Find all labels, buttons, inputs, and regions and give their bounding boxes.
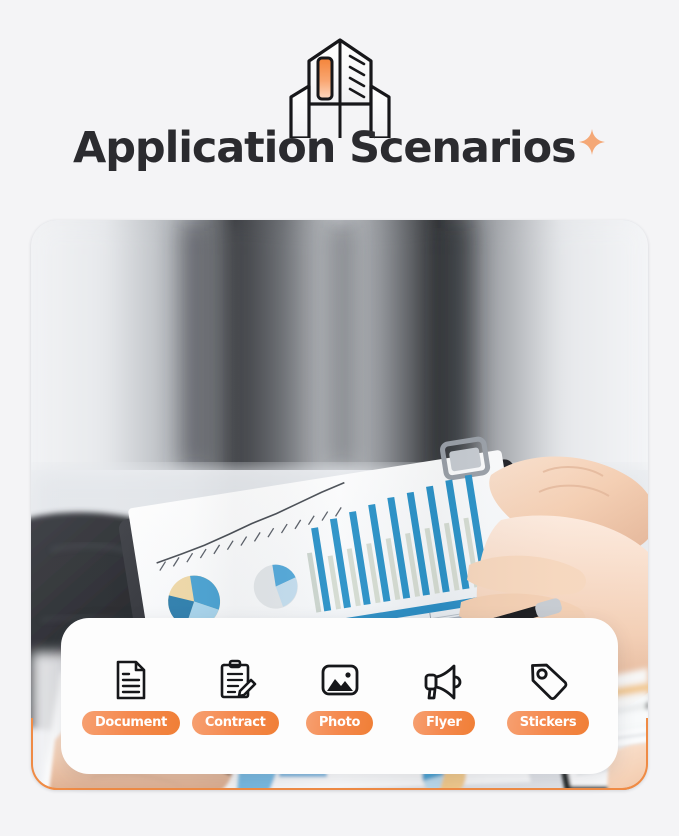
sparkle-star-icon bbox=[578, 128, 606, 156]
category-item-flyer[interactable]: Flyer bbox=[392, 658, 496, 735]
category-item-photo[interactable]: Photo bbox=[288, 658, 392, 735]
price-tag-icon bbox=[526, 658, 570, 702]
document-file-icon bbox=[109, 658, 153, 702]
category-label-document[interactable]: Document bbox=[82, 711, 180, 735]
category-item-stickers[interactable]: Stickers bbox=[496, 658, 600, 735]
category-label-contract[interactable]: Contract bbox=[192, 711, 279, 735]
scenario-category-card: Document Contract bbox=[61, 618, 618, 774]
promo-page: Application Scenarios bbox=[0, 0, 679, 836]
image-picture-icon bbox=[318, 658, 362, 702]
megaphone-icon bbox=[422, 658, 466, 702]
category-item-document[interactable]: Document bbox=[79, 658, 183, 735]
category-label-flyer[interactable]: Flyer bbox=[413, 711, 475, 735]
category-label-photo[interactable]: Photo bbox=[306, 711, 373, 735]
clipboard-pen-icon bbox=[213, 658, 257, 702]
page-header: Application Scenarios bbox=[0, 0, 679, 212]
category-label-stickers[interactable]: Stickers bbox=[507, 711, 590, 735]
category-item-contract[interactable]: Contract bbox=[183, 658, 287, 735]
page-title: Application Scenarios bbox=[73, 126, 575, 171]
title-row: Application Scenarios bbox=[0, 126, 679, 171]
